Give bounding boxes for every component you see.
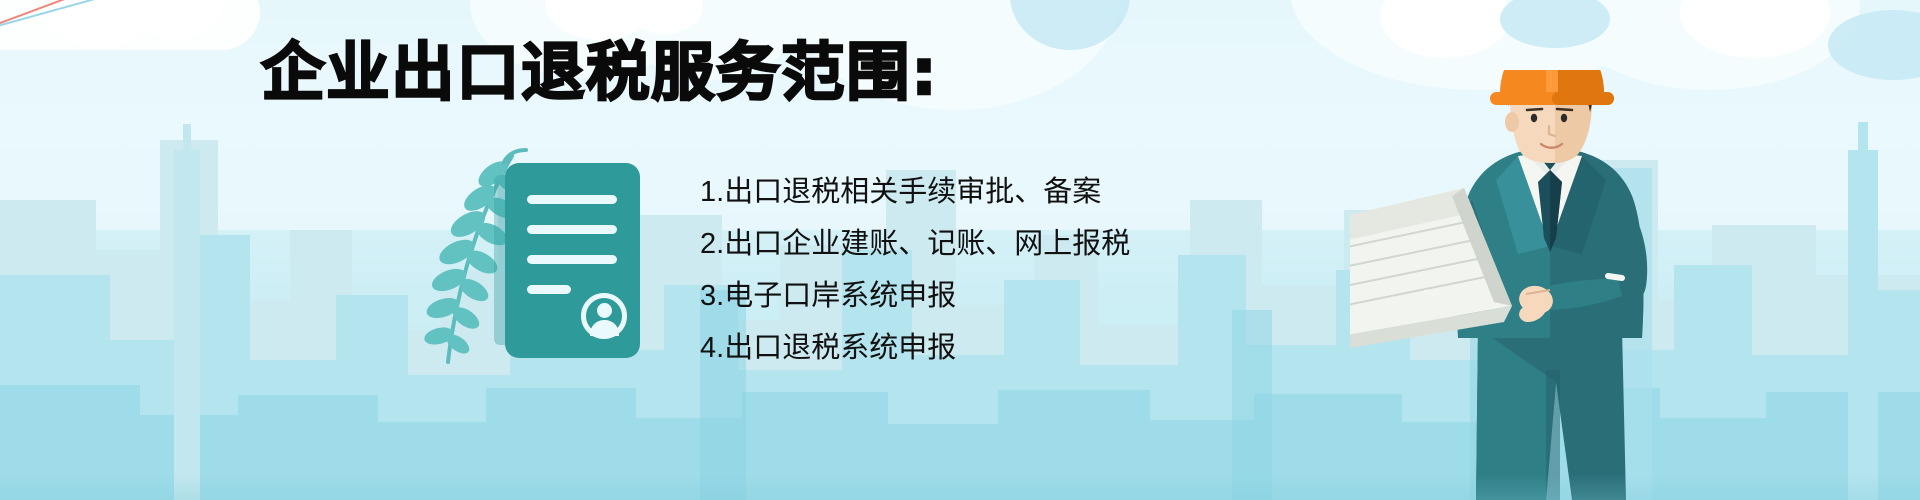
list-item: 1.出口退税相关手续审批、备案: [700, 176, 1220, 208]
list-item: 3.电子口岸系统申报: [700, 280, 1220, 312]
list-item-label: 出口退税系统申报: [724, 330, 956, 364]
list-item-number: 4.: [700, 332, 724, 364]
list-item: 2.出口企业建账、记账、网上报税: [700, 228, 1220, 260]
businessman-with-blueprint-illustration: [1350, 70, 1770, 500]
banner-root: 企业出口退税服务范围:: [0, 0, 1920, 500]
list-item-label: 出口企业建账、记账、网上报税: [724, 226, 1130, 260]
list-item-number: 2.: [700, 228, 724, 260]
list-item: 4.出口退税系统申报: [700, 332, 1220, 364]
list-item-label: 出口退税相关手续审批、备案: [724, 174, 1101, 208]
list-item-number: 1.: [700, 176, 724, 208]
certificate-document-icon: [505, 163, 645, 363]
orange-hard-hat-icon: [1490, 70, 1614, 105]
list-item-number: 3.: [700, 280, 724, 312]
list-item-label: 电子口岸系统申报: [724, 278, 956, 312]
page-title: 企业出口退税服务范围:: [0, 38, 1200, 108]
bottom-shade: [0, 474, 1920, 500]
service-list: 1.出口退税相关手续审批、备案 2.出口企业建账、记账、网上报税 3.电子口岸系…: [700, 176, 1220, 384]
